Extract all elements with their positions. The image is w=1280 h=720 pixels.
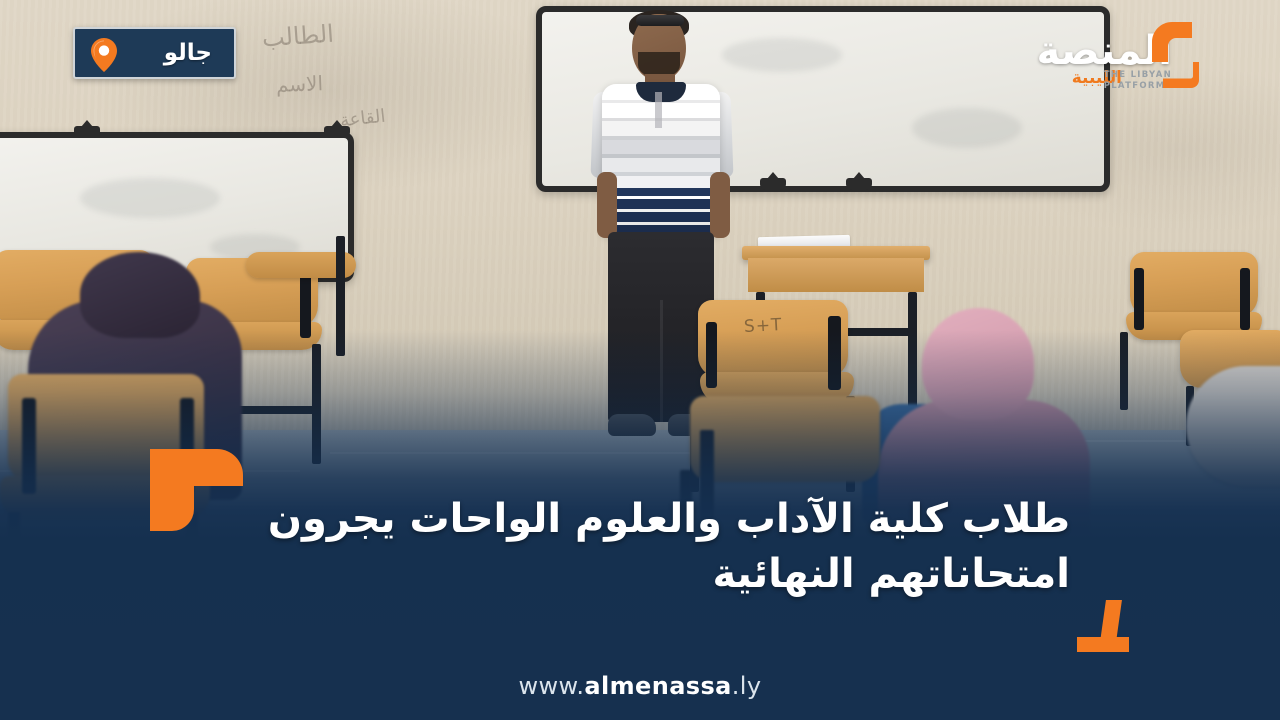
board-clip [74,126,100,138]
chair-graffiti: S+T [744,315,783,337]
map-pin-icon [91,38,117,72]
logo-latin-subtitle: THE LIBYAN PLATFORM [1104,70,1172,91]
board-clip [846,178,872,190]
wall-graffiti-2: الاسم [276,71,324,97]
site-url[interactable]: www.almenassa.ly [0,672,1280,700]
url-prefix: www. [519,672,585,700]
location-label: جالو [164,40,212,66]
logo-quote-close-icon [1163,62,1199,88]
location-badge[interactable]: جالو [73,27,236,79]
news-card: الطالب الاسم القاعة [0,0,1280,720]
hijab-pink [922,308,1034,420]
logo-quote-open-icon [1146,18,1198,62]
board-clip [324,126,350,138]
wall-graffiti-1: الطالب [261,20,335,53]
sunglasses-on-head [636,15,684,26]
hijab-dark [80,252,200,338]
floor-seam [330,452,750,454]
site-logo[interactable]: المنصة الليبية THE LIBYAN PLATFORM [1003,14,1218,94]
logo-latin-line1: THE LIBYAN [1104,70,1172,80]
url-brand: almenassa [584,672,731,700]
quote-close-icon [1077,600,1133,652]
logo-latin-line2: PLATFORM [1104,81,1166,91]
board-clip [760,178,786,190]
headline-text: طلاب كلية الآداب والعلوم الواحات يجرون ا… [190,492,1070,602]
url-suffix: .ly [732,672,762,700]
